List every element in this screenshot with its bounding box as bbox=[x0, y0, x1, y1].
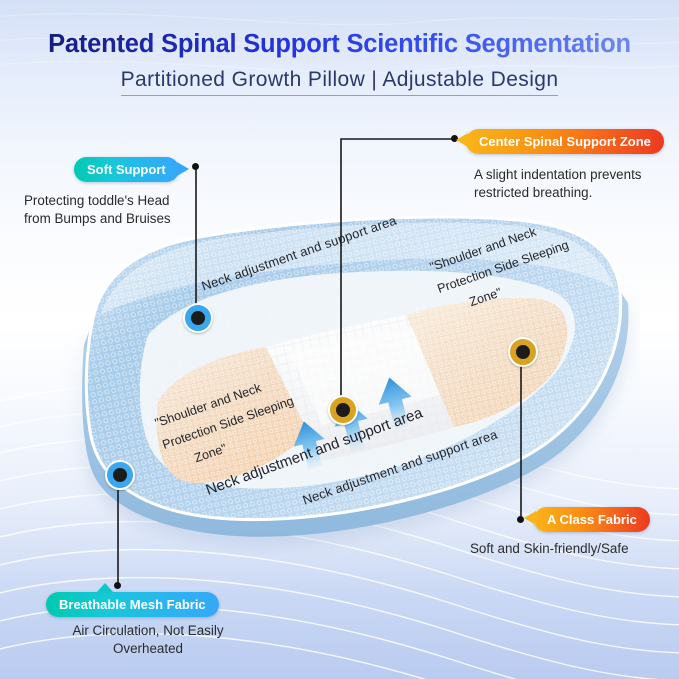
marker-mesh[interactable] bbox=[105, 460, 135, 490]
badge-a-class-label: A Class Fabric bbox=[547, 512, 637, 527]
badge-center-zone-label: Center Spinal Support Zone bbox=[479, 134, 651, 149]
infographic-canvas: Patented Spinal Support Scientific Segme… bbox=[0, 0, 679, 679]
caption-soft-support: Protecting toddle's Head from Bumps and … bbox=[24, 192, 171, 227]
badge-tail-icon bbox=[524, 511, 536, 525]
badge-a-class-fabric[interactable]: A Class Fabric bbox=[534, 507, 650, 532]
badge-tail-icon bbox=[96, 583, 114, 593]
marker-center-zone[interactable] bbox=[328, 395, 358, 425]
caption-breathable-mesh: Air Circulation, Not Easily Overheated bbox=[38, 622, 258, 657]
badge-tail-icon bbox=[177, 162, 189, 176]
connector-center-zone bbox=[341, 139, 455, 408]
connector-dot-a-class bbox=[517, 516, 524, 523]
badge-mesh-label: Breathable Mesh Fabric bbox=[59, 597, 206, 612]
connector-dot-mesh bbox=[114, 582, 121, 589]
marker-soft-support[interactable] bbox=[183, 303, 213, 333]
connector-dot-soft-support bbox=[192, 163, 199, 170]
caption-center-zone: A slight indentation prevents restricted… bbox=[474, 166, 642, 201]
marker-a-class[interactable] bbox=[508, 337, 538, 367]
badge-soft-support[interactable]: Soft Support bbox=[74, 157, 179, 182]
connector-lines bbox=[0, 0, 679, 679]
caption-a-class-fabric: Soft and Skin-friendly/Safe bbox=[470, 540, 629, 558]
badge-soft-support-label: Soft Support bbox=[87, 162, 166, 177]
badge-center-spinal-support-zone[interactable]: Center Spinal Support Zone bbox=[466, 129, 664, 154]
badge-breathable-mesh-fabric[interactable]: Breathable Mesh Fabric bbox=[46, 592, 219, 617]
badge-tail-icon bbox=[456, 133, 468, 147]
